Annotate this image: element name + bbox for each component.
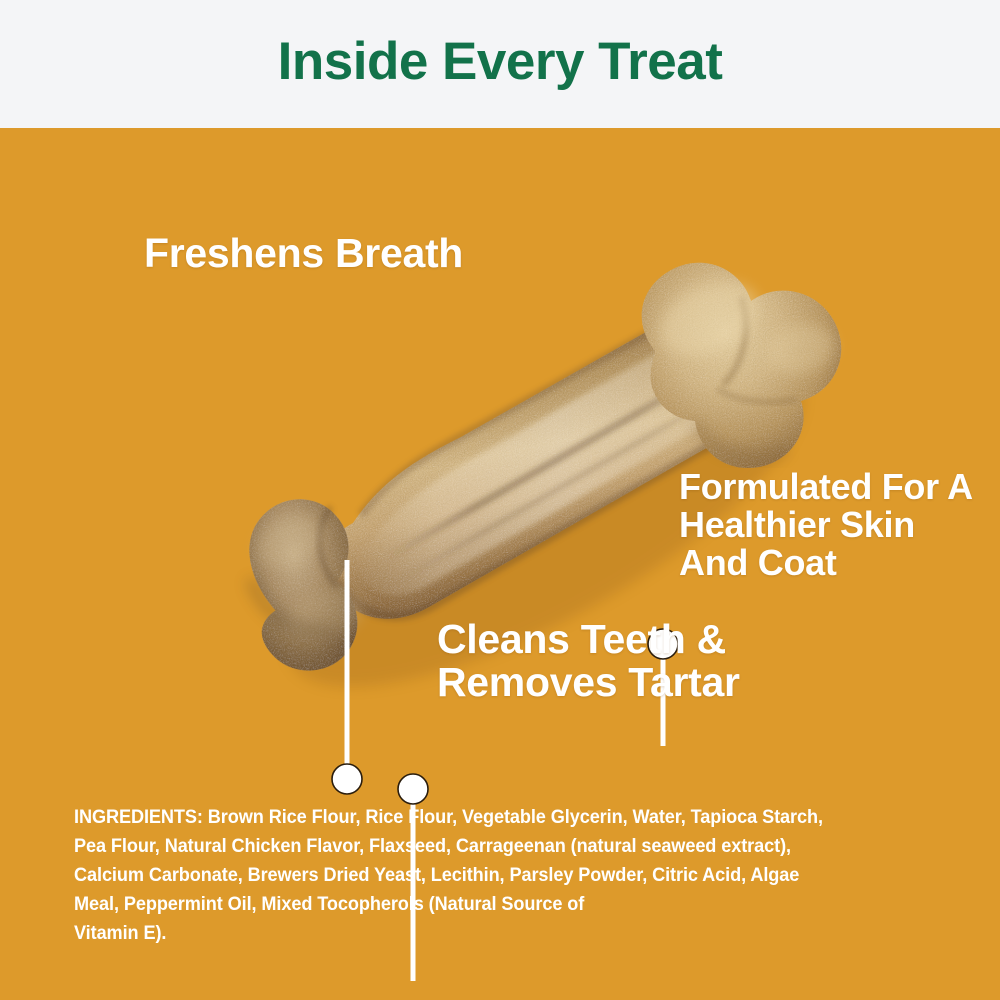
ingredients-block: INGREDIENTS: Brown Rice Flour, Rice Flou… [74,803,944,948]
ingredients-line: Calcium Carbonate, Brewers Dried Yeast, … [74,861,883,890]
ingredients-line: Meal, Peppermint Oil, Mixed Tocopherols … [74,890,883,919]
ingredients-line: INGREDIENTS: Brown Rice Flour, Rice Flou… [74,803,883,832]
callout-label-cleans-teeth: Cleans Teeth & Removes Tartar [437,618,740,705]
callout-dot-cleans-teeth [398,774,428,804]
infographic-poster: Inside Every Treat [0,0,1000,1000]
body-area: Freshens Breath Formulated For A Healthi… [0,128,1000,1000]
header-band: Inside Every Treat [0,0,1000,128]
callout-label-freshens-breath: Freshens Breath [144,232,463,275]
ingredients-line: Pea Flour, Natural Chicken Flavor, Flaxs… [74,832,883,861]
callout-dot-freshens-breath [332,764,362,794]
page-title: Inside Every Treat [278,35,723,88]
ingredients-line: Vitamin E). [74,919,883,948]
callout-label-healthier-skin: Formulated For A Healthier Skin And Coat [679,468,973,582]
